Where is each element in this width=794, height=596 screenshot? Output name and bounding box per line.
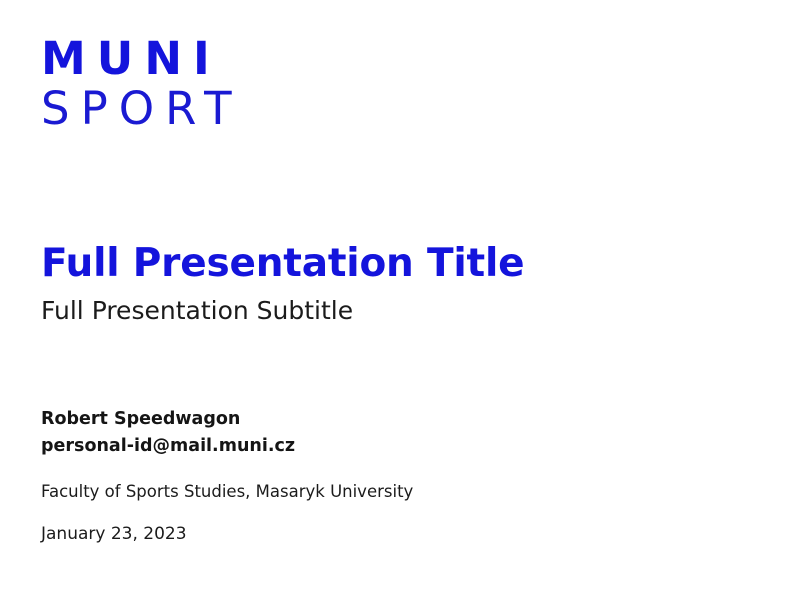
presentation-title: Full Presentation Title: [41, 241, 741, 286]
logo-wordmark-muni: MUNI: [41, 36, 243, 82]
presentation-title-slide: MUNI SPORT Full Presentation Title Full …: [0, 0, 794, 596]
presentation-subtitle: Full Presentation Subtitle: [41, 295, 741, 328]
logo-wordmark-sport: SPORT: [41, 82, 243, 137]
presentation-date: January 23, 2023: [41, 523, 741, 547]
author-meta-block: Robert Speedwagon personal-id@mail.muni.…: [41, 406, 741, 547]
author-email: personal-id@mail.muni.cz: [41, 433, 741, 460]
author-affiliation: Faculty of Sports Studies, Masaryk Unive…: [41, 480, 741, 503]
muni-sport-logo: MUNI SPORT: [41, 36, 243, 137]
author-name: Robert Speedwagon: [41, 406, 741, 433]
title-block: Full Presentation Title Full Presentatio…: [41, 241, 741, 328]
